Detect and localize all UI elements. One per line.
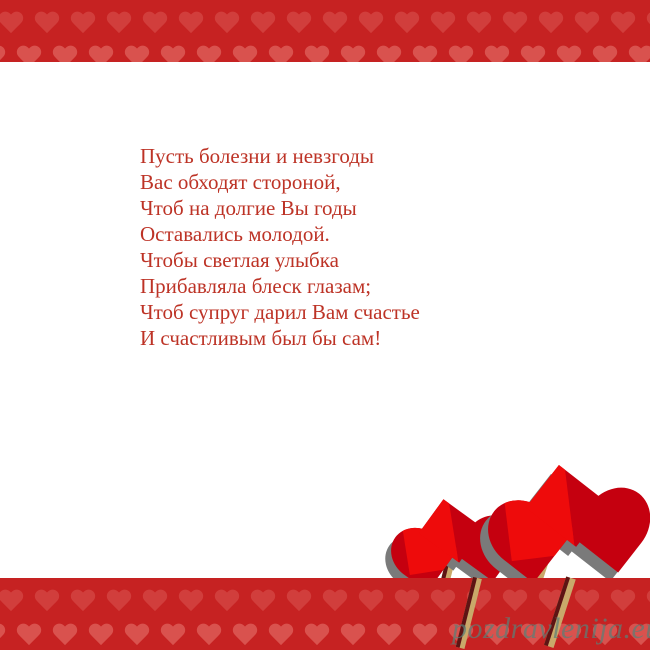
- pattern-heart-icon: [52, 624, 78, 647]
- pattern-heart-icon: [178, 590, 204, 613]
- pattern-heart-icon: [52, 578, 78, 579]
- pattern-heart-icon: [466, 12, 492, 35]
- poem-line: Чтобы светлая улыбка: [140, 247, 580, 273]
- pattern-heart-icon: [358, 12, 384, 35]
- pattern-heart-icon: [592, 0, 618, 1]
- pattern-heart-icon: [70, 12, 96, 35]
- pattern-heart-icon: [484, 46, 510, 62]
- pattern-heart-icon: [304, 578, 330, 579]
- pattern-heart-icon: [646, 12, 650, 35]
- top-heart-border: [0, 0, 650, 62]
- pattern-heart-icon: [196, 624, 222, 647]
- pattern-heart-icon: [358, 590, 384, 613]
- pattern-heart-icon: [322, 12, 348, 35]
- large-heart: [499, 443, 634, 561]
- pattern-heart-icon: [268, 46, 294, 62]
- pattern-heart-icon: [0, 578, 6, 579]
- pattern-heart-icon: [520, 578, 546, 579]
- pattern-heart-icon: [88, 0, 114, 1]
- pattern-heart-icon: [160, 46, 186, 62]
- pattern-heart-icon: [196, 46, 222, 62]
- pattern-heart-icon: [376, 0, 402, 1]
- pattern-heart-icon: [430, 12, 456, 35]
- pattern-heart-icon: [448, 578, 474, 579]
- pattern-heart-icon: [106, 590, 132, 613]
- poem-line: Вас обходят стороной,: [140, 169, 580, 195]
- watermark: pozdravlenija.eu: [452, 612, 650, 646]
- poem-line: И счастливым был бы сам!: [140, 325, 580, 351]
- pattern-heart-icon: [412, 578, 438, 579]
- heart-bright-half: [499, 450, 575, 561]
- pattern-heart-icon: [34, 12, 60, 35]
- pattern-heart-icon: [0, 0, 6, 1]
- pattern-heart-icon: [340, 46, 366, 62]
- pattern-heart-icon: [412, 0, 438, 1]
- pattern-heart-icon: [376, 46, 402, 62]
- pattern-heart-icon: [304, 624, 330, 647]
- pattern-heart-icon: [484, 578, 510, 579]
- pattern-heart-icon: [268, 578, 294, 579]
- pattern-heart-icon: [520, 0, 546, 1]
- pattern-heart-icon: [88, 46, 114, 62]
- pattern-heart-icon: [502, 12, 528, 35]
- pattern-heart-icon: [574, 12, 600, 35]
- pattern-heart-icon: [16, 46, 42, 62]
- pattern-heart-icon: [268, 0, 294, 1]
- pattern-heart-icon: [0, 46, 6, 62]
- pattern-heart-icon: [412, 624, 438, 647]
- pattern-heart-icon: [160, 624, 186, 647]
- pattern-heart-icon: [556, 46, 582, 62]
- pattern-heart-icon: [16, 0, 42, 1]
- pattern-heart-icon: [592, 578, 618, 579]
- pattern-heart-icon: [286, 12, 312, 35]
- pattern-heart-icon: [124, 578, 150, 579]
- pattern-heart-icon: [142, 12, 168, 35]
- pattern-heart-icon: [0, 12, 24, 35]
- pattern-heart-icon: [160, 578, 186, 579]
- pattern-heart-icon: [70, 590, 96, 613]
- pattern-heart-icon: [196, 0, 222, 1]
- pattern-heart-icon: [448, 46, 474, 62]
- poem-line: Прибавляла блеск глазам;: [140, 273, 580, 299]
- pattern-heart-icon: [232, 624, 258, 647]
- pattern-heart-icon: [106, 12, 132, 35]
- pattern-heart-icon: [538, 12, 564, 35]
- pattern-heart-icon: [610, 12, 636, 35]
- pattern-heart-icon: [304, 0, 330, 1]
- poem-text: Пусть болезни и невзгоды Вас обходят сто…: [140, 143, 580, 351]
- pattern-heart-icon: [142, 590, 168, 613]
- pattern-heart-icon: [376, 624, 402, 647]
- pattern-heart-icon: [448, 0, 474, 1]
- poem-line: Чтоб супруг дарил Вам счастье: [140, 299, 580, 325]
- pattern-heart-icon: [124, 46, 150, 62]
- pattern-heart-icon: [34, 590, 60, 613]
- poem-line: Пусть болезни и невзгоды: [140, 143, 580, 169]
- pattern-heart-icon: [394, 590, 420, 613]
- pattern-heart-icon: [646, 590, 650, 613]
- pattern-heart-icon: [0, 624, 6, 647]
- pattern-heart-icon: [0, 590, 24, 613]
- pattern-heart-icon: [232, 0, 258, 1]
- pattern-heart-icon: [16, 578, 42, 579]
- pattern-heart-icon: [124, 624, 150, 647]
- pattern-heart-icon: [214, 12, 240, 35]
- pattern-heart-icon: [502, 590, 528, 613]
- pattern-heart-icon: [160, 0, 186, 1]
- pattern-heart-icon: [340, 578, 366, 579]
- pattern-heart-icon: [610, 590, 636, 613]
- pattern-heart-icon: [52, 46, 78, 62]
- pattern-heart-icon: [628, 46, 650, 62]
- pattern-heart-icon: [16, 624, 42, 647]
- pattern-heart-icon: [214, 590, 240, 613]
- pattern-heart-icon: [178, 12, 204, 35]
- pattern-heart-icon: [628, 0, 650, 1]
- pattern-heart-icon: [196, 578, 222, 579]
- pattern-heart-icon: [394, 12, 420, 35]
- pattern-heart-icon: [520, 46, 546, 62]
- pattern-heart-icon: [88, 578, 114, 579]
- pattern-heart-icon: [340, 0, 366, 1]
- pattern-heart-icon: [232, 46, 258, 62]
- pattern-heart-icon: [52, 0, 78, 1]
- poem-line: Оставались молодой.: [140, 221, 580, 247]
- pattern-heart-icon: [88, 624, 114, 647]
- greeting-card: Пусть болезни и невзгоды Вас обходят сто…: [0, 0, 650, 650]
- pattern-heart-icon: [340, 624, 366, 647]
- pattern-heart-icon: [412, 46, 438, 62]
- pattern-heart-icon: [250, 12, 276, 35]
- pattern-heart-icon: [286, 590, 312, 613]
- pattern-heart-icon: [574, 590, 600, 613]
- pattern-heart-icon: [124, 0, 150, 1]
- pattern-heart-icon: [232, 578, 258, 579]
- pattern-heart-icon: [376, 578, 402, 579]
- pattern-heart-icon: [430, 590, 456, 613]
- pattern-heart-icon: [484, 0, 510, 1]
- poem-line: Чтоб на долгие Вы годы: [140, 195, 580, 221]
- pattern-heart-icon: [628, 578, 650, 579]
- pattern-heart-icon: [268, 624, 294, 647]
- pattern-heart-icon: [304, 46, 330, 62]
- pattern-heart-icon: [556, 0, 582, 1]
- pattern-heart-icon: [592, 46, 618, 62]
- pattern-heart-icon: [250, 590, 276, 613]
- pattern-heart-icon: [322, 590, 348, 613]
